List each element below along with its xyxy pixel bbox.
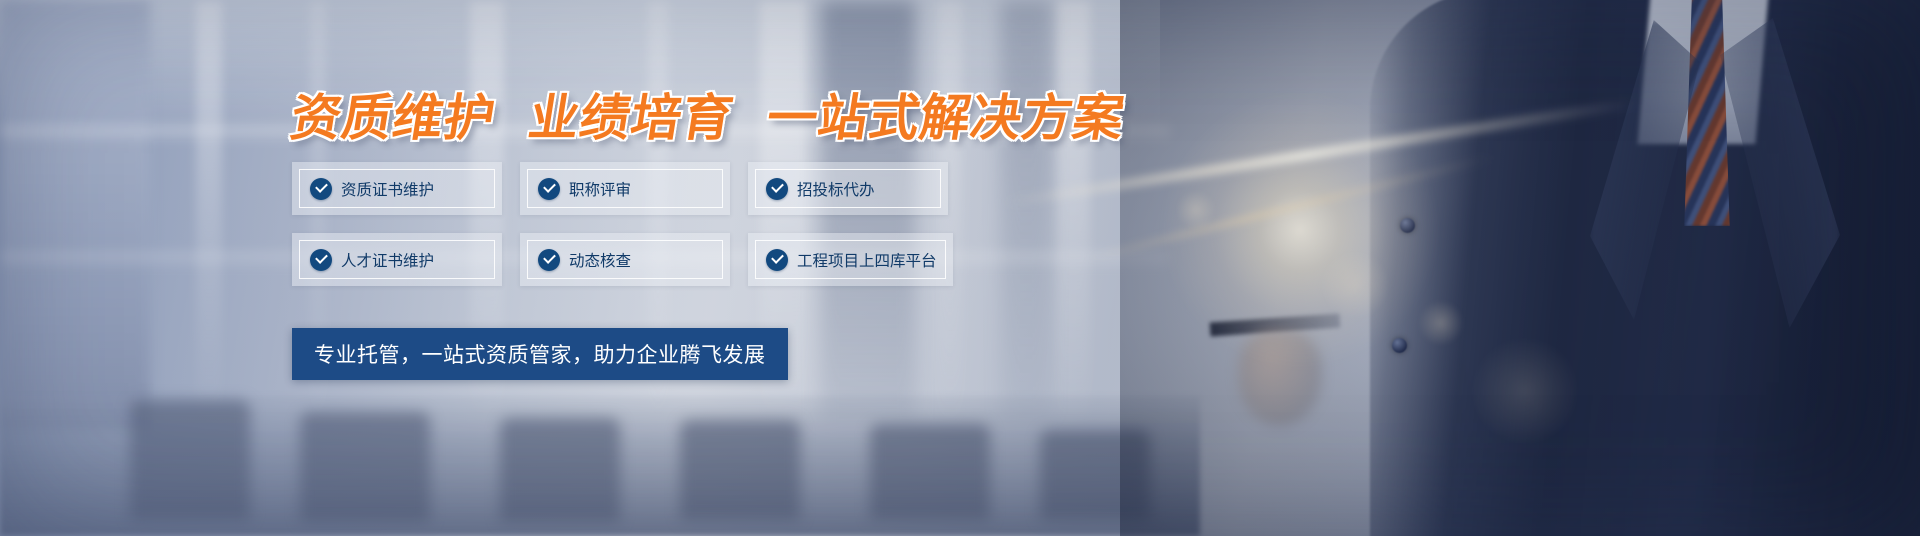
check-circle-icon (766, 249, 788, 271)
feature-grid: 资质证书维护 职称评审 招投标代办 人才证书维护 (292, 162, 958, 286)
banner-content: 资质维护业绩培育一站式解决方案 资质证书维护 职称评审 招投标代办 (0, 0, 1920, 536)
headline-segment-3: 一站式解决方案 (762, 78, 1130, 150)
feature-card-qualification-certificate-maintenance[interactable]: 资质证书维护 (292, 162, 502, 215)
feature-label: 招投标代办 (797, 178, 875, 200)
feature-card-bidding-agency[interactable]: 招投标代办 (748, 162, 948, 215)
feature-card-project-four-database-platform[interactable]: 工程项目上四库平台 (748, 233, 953, 286)
check-circle-icon (310, 249, 332, 271)
feature-label: 资质证书维护 (341, 178, 434, 200)
headline-segment-2: 业绩培育 (524, 78, 739, 150)
banner-headline: 资质维护业绩培育一站式解决方案 (286, 78, 1130, 150)
feature-card-dynamic-verification[interactable]: 动态核查 (520, 233, 730, 286)
check-circle-icon (538, 249, 560, 271)
feature-label: 工程项目上四库平台 (797, 249, 937, 271)
headline-segment-1: 资质维护 (286, 78, 501, 150)
check-circle-icon (538, 178, 560, 200)
feature-card-title-evaluation[interactable]: 职称评审 (520, 162, 730, 215)
check-circle-icon (766, 178, 788, 200)
feature-label: 人才证书维护 (341, 249, 434, 271)
feature-label: 职称评审 (569, 178, 631, 200)
check-circle-icon (310, 178, 332, 200)
banner-tagline: 专业托管，一站式资质管家，助力企业腾飞发展 (292, 328, 788, 380)
promotional-banner: 资质维护业绩培育一站式解决方案 资质证书维护 职称评审 招投标代办 (0, 0, 1920, 536)
feature-label: 动态核查 (569, 249, 631, 271)
feature-card-talent-certificate-maintenance[interactable]: 人才证书维护 (292, 233, 502, 286)
